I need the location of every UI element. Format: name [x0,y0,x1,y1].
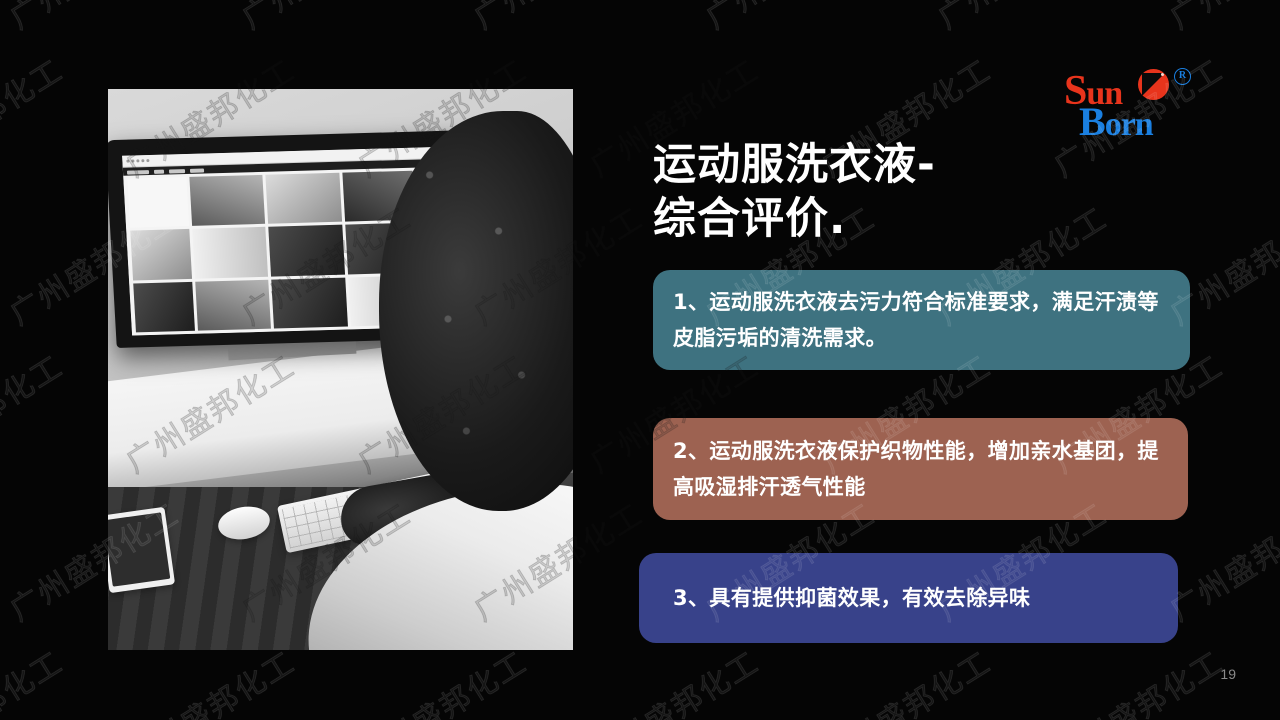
watermark-text: 广州盛邦化工 [696,0,882,37]
watermark-text: 广州盛邦化工 [0,46,70,185]
navbar-chip [169,169,185,173]
logo-born-text: Born [1079,102,1153,142]
watermark-text: 广州盛邦化工 [1276,342,1280,481]
watermark-text: 广州盛邦化工 [0,342,70,481]
grid-tile [130,229,192,280]
conclusion-text-1: 1、运动服洗衣液去污力符合标准要求，满足汗渍等皮脂污垢的清洗需求。 [673,284,1170,356]
grid-tile [189,175,265,226]
watermark-text: 广州盛邦化工 [464,0,650,37]
grid-tile [192,227,268,278]
page-title: 运动服洗衣液- 综合评价. [653,138,936,246]
grid-tile [127,177,189,228]
photo-tablet [108,507,175,593]
grid-tile [195,279,271,330]
grid-tile [133,282,195,333]
grid-tile [269,225,345,276]
navbar-chip [127,170,149,175]
sunburst-icon [1138,69,1169,100]
logo-born-initial: B [1079,99,1105,144]
watermark-text: 广州盛邦化工 [116,638,302,720]
conclusion-box-1: 1、运动服洗衣液去污力符合标准要求，满足汗渍等皮脂污垢的清洗需求。 [653,270,1190,370]
conclusion-box-3: 3、具有提供抑菌效果，有效去除异味 [639,553,1178,643]
watermark-text: 广州盛邦化工 [0,638,70,720]
logo-born-rest: orn [1105,106,1153,143]
watermark-text: 广州盛邦化工 [580,638,766,720]
conclusion-box-2: 2、运动服洗衣液保护织物性能，增加亲水基团，提高吸湿排汗透气性能 [653,418,1188,520]
conclusion-text-3: 3、具有提供抑菌效果，有效去除异味 [673,580,1144,616]
navbar-chip [154,169,164,173]
watermark-text: 广州盛邦化工 [232,0,418,37]
slide: Sun R Born 运动服洗衣液- 综合评价. 1、运动服洗衣液去污力符合标准… [0,0,1280,720]
watermark-text: 广州盛邦化工 [1276,638,1280,720]
browser-dot-icon [146,159,149,162]
browser-dot-icon [131,159,134,162]
watermark-text: 广州盛邦化工 [928,0,1114,37]
registered-trademark-icon: R [1174,68,1191,85]
grid-tile [272,277,348,328]
watermark-text: 广州盛邦化工 [348,638,534,720]
brand-logo: Sun R Born [1064,66,1184,142]
browser-dot-icon [136,159,139,162]
browser-dot-icon [141,159,144,162]
page-number: 19 [1220,666,1236,682]
watermark-text: 广州盛邦化工 [1276,46,1280,185]
watermark-text: 广州盛邦化工 [812,638,998,720]
slide-photo [108,89,573,650]
watermark-text: 广州盛邦化工 [0,0,186,37]
browser-dot-icon [126,160,129,163]
conclusion-text-2: 2、运动服洗衣液保护织物性能，增加亲水基团，提高吸湿排汗透气性能 [673,433,1168,505]
navbar-chip [190,168,204,172]
watermark-text: 广州盛邦化工 [1044,638,1230,720]
grid-tile [266,173,342,224]
watermark-text: 广州盛邦化工 [1160,0,1280,37]
